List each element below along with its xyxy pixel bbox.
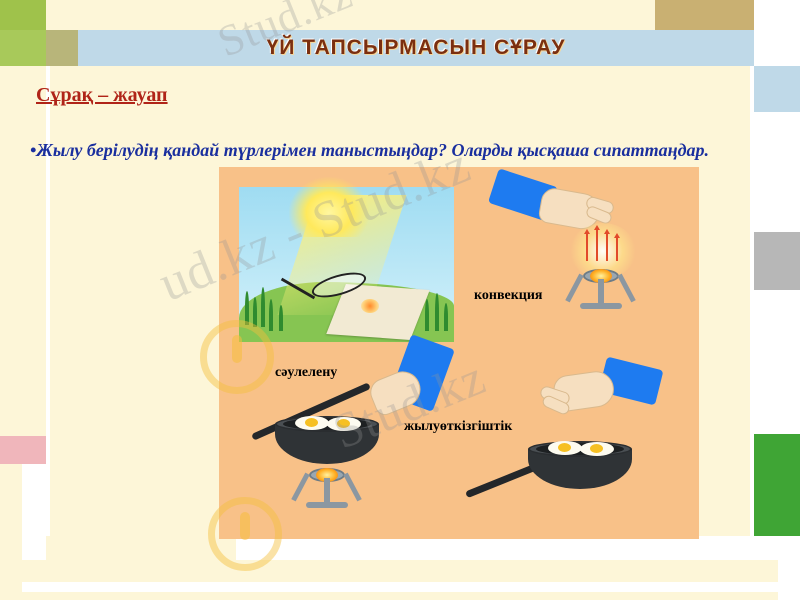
burner-leg xyxy=(617,274,635,303)
burner-leg xyxy=(565,274,583,303)
decor-right-grey-block xyxy=(754,232,800,290)
section-heading: Сұрақ – жауап xyxy=(36,84,168,107)
decor-left-pink-block xyxy=(0,436,46,464)
decor-top-strip xyxy=(46,0,754,30)
grass-blade xyxy=(425,299,429,331)
burner-icon xyxy=(566,263,636,309)
grass-blade xyxy=(269,299,273,331)
label-radiation: сәулелену xyxy=(275,365,337,381)
burner-base xyxy=(580,303,622,309)
decor-bottom-left-square xyxy=(46,536,236,560)
decor-right-white-1 xyxy=(754,112,800,232)
grass-blade xyxy=(279,305,283,331)
heat-arrow xyxy=(606,233,608,261)
decor-right-green-block xyxy=(754,434,800,536)
heat-transfer-illustration: конвекция сәулелену жылуөткізгіштік xyxy=(219,167,699,539)
egg-yolk xyxy=(590,444,603,453)
slide-title: ҮЙ ТАПСЫРМАСЫН СҰРАУ xyxy=(267,36,566,60)
decor-right-white-2 xyxy=(754,290,800,434)
decor-top-tan-block xyxy=(655,0,754,30)
egg-yolk xyxy=(558,443,571,452)
decor-right-blue-block xyxy=(754,66,800,112)
grass-blade xyxy=(253,297,257,327)
heat-arrow xyxy=(616,237,618,261)
decor-left-column-yellow xyxy=(0,66,22,436)
egg-yolk xyxy=(305,418,318,427)
label-conduction: жылуөткізгіштік xyxy=(404,419,512,435)
egg-yolk xyxy=(337,419,350,428)
decor-top-left-olive xyxy=(46,30,78,66)
bullet-paragraph: •Жылу берілудің қандай түрлерімен таныст… xyxy=(30,138,740,162)
decor-bottom-thin-yellow xyxy=(22,592,778,600)
heat-arrow xyxy=(586,233,588,261)
label-convection: конвекция xyxy=(474,288,543,304)
grass-blade xyxy=(245,291,249,325)
sun-icon xyxy=(289,177,369,237)
burner-leg xyxy=(343,473,361,502)
grass-blade xyxy=(444,303,448,331)
burner-icon xyxy=(292,462,362,508)
burner-leg xyxy=(291,473,309,502)
conduction-scene-right xyxy=(474,367,689,527)
burner-base xyxy=(306,502,348,508)
slide-title-container: ҮЙ ТАПСЫРМАСЫН СҰРАУ xyxy=(78,30,754,66)
heat-arrow xyxy=(596,229,598,261)
decor-top-left-green-2 xyxy=(0,30,46,66)
grass-blade xyxy=(261,287,265,327)
decor-bottom-yellow-line xyxy=(22,560,778,582)
decor-top-left-green xyxy=(0,0,46,30)
burn-spot xyxy=(361,299,379,313)
decor-left-lower-yellow xyxy=(0,464,22,600)
radiation-scene xyxy=(239,187,454,342)
decor-top-right-white xyxy=(754,0,800,66)
bullet-text: Жылу берілудің қандай түрлерімен танысты… xyxy=(36,140,709,160)
conduction-scene-left xyxy=(249,382,479,532)
grass-blade xyxy=(435,293,439,331)
slide-root: ҮЙ ТАПСЫРМАСЫН СҰРАУ Сұрақ – жауап •Жылу… xyxy=(0,0,800,600)
